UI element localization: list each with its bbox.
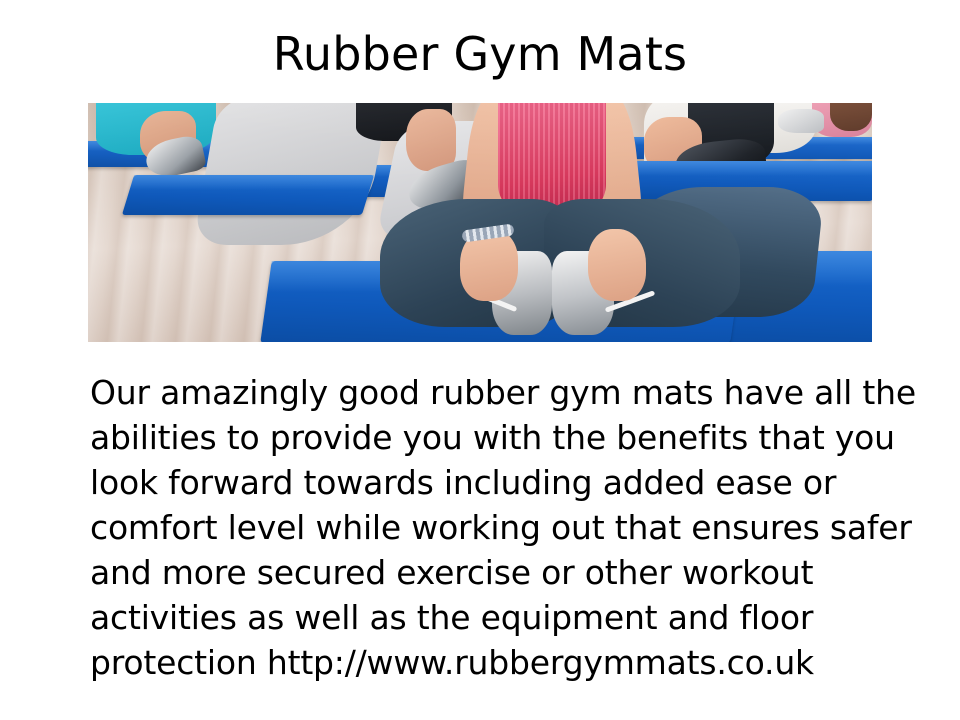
shoe <box>778 109 824 133</box>
page-title: Rubber Gym Mats <box>0 26 960 82</box>
body-line: Our amazingly good rubber gym mats have … <box>90 370 880 415</box>
person-figure <box>830 103 872 131</box>
body-line: look forward towards including added eas… <box>90 460 880 505</box>
body-line: activities as well as the equipment and … <box>90 595 880 640</box>
gym-mat <box>122 175 374 215</box>
body-line: and more secured exercise or other worko… <box>90 550 880 595</box>
photo-scene <box>88 103 872 342</box>
person-figure <box>588 229 646 301</box>
slide: Rubber Gym Mats <box>0 0 960 720</box>
body-text: Our amazingly good rubber gym mats have … <box>90 370 880 685</box>
person-figure <box>406 109 456 171</box>
hero-photo <box>88 103 872 342</box>
body-line: comfort level while working out that ens… <box>90 505 880 550</box>
body-line-with-url: protection http://www.rubbergymmats.co.u… <box>90 640 880 685</box>
person-figure <box>498 103 606 213</box>
body-line: abilities to provide you with the benefi… <box>90 415 880 460</box>
